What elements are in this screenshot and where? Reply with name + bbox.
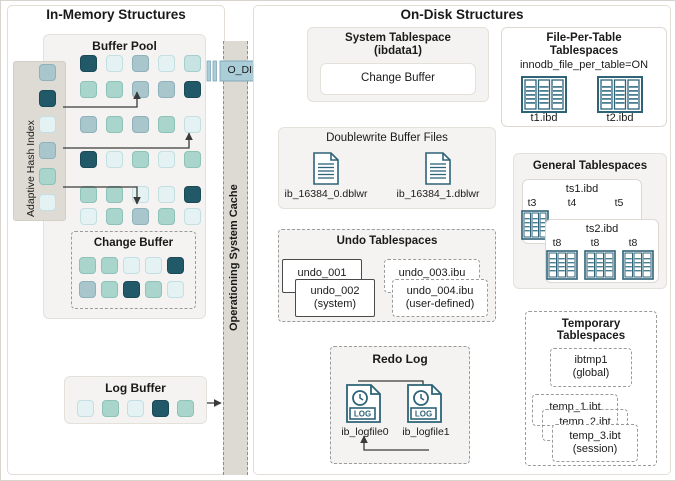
ts1-table-t4-label: t4	[560, 197, 584, 209]
undo-001-label: undo_001	[282, 267, 362, 279]
log-buffer-page	[152, 400, 169, 417]
log-buffer-title: Log Buffer	[64, 381, 207, 395]
os-cache-label: Operationing System Cache	[229, 184, 240, 331]
file-per-table-title-2: Tablespaces	[501, 45, 667, 57]
change-buffer-page	[79, 281, 96, 298]
ts2-table-2-label: t8	[621, 237, 645, 249]
doublewrite-title: Doublewrite Buffer Files	[278, 132, 496, 144]
adaptive-hash-index-label: Adaptive Hash Index	[25, 120, 37, 217]
temp-3-ibt-label: temp_3.ibt	[552, 430, 638, 442]
change-buffer-page	[101, 281, 118, 298]
system-tablespace-subtitle: (ibdata1)	[307, 45, 489, 57]
undo-004-sublabel: (user-defined)	[392, 298, 488, 310]
buffer-page	[106, 55, 123, 72]
buffer-page	[80, 55, 97, 72]
change-buffer-page	[167, 281, 184, 298]
os-cache-label-text: Operationing System Cache	[228, 184, 240, 331]
temp-3-ibt-sublabel: (session)	[552, 443, 638, 455]
system-change-buffer-label: Change Buffer	[320, 72, 476, 84]
ibtmp1-sublabel: (global)	[550, 367, 632, 379]
ahi-page	[39, 90, 56, 107]
undo-004-label: undo_004.ibu	[392, 285, 488, 297]
dblwr-1-file-icon	[425, 152, 451, 185]
ib-logfile0-icon: LOG	[346, 384, 382, 424]
ts2-table-0-label: t8	[545, 237, 569, 249]
undo-003-label: undo_003.ibu	[384, 267, 480, 279]
in-memory-header: In-Memory Structures	[7, 7, 225, 22]
ahi-page	[39, 142, 56, 159]
ts1-table-t3-label: t3	[520, 197, 544, 209]
file-per-table-title-1: File-Per-Table	[501, 32, 667, 44]
temporary-tablespaces-title-1: Temporary	[525, 318, 657, 330]
svg-text:LOG: LOG	[354, 410, 371, 419]
change-buffer-memory-title: Change Buffer	[71, 237, 196, 249]
dblwr-0-file-icon	[313, 152, 339, 185]
change-buffer-page	[79, 257, 96, 274]
ahi-page	[39, 168, 56, 185]
t2-table-icon	[598, 77, 642, 112]
ts2-table-1-label: t8	[583, 237, 607, 249]
svg-text:LOG: LOG	[415, 410, 432, 419]
ahi-arrows	[61, 87, 211, 232]
change-buffer-page	[101, 257, 118, 274]
ts2-name: ts2.ibd	[545, 223, 659, 235]
undo-tablespaces-title: Undo Tablespaces	[278, 235, 496, 247]
buffer-page	[132, 55, 149, 72]
ib-logfile1-label: ib_logfile1	[393, 426, 459, 438]
log-buffer-page	[102, 400, 119, 417]
ts1-table-t5-label: t5	[607, 197, 631, 209]
t1-table-icon	[522, 77, 566, 112]
dblwr-0-label: ib_16384_0.dblwr	[281, 188, 371, 200]
buffer-pool-title: Buffer Pool	[43, 39, 206, 53]
ts2-table-icons	[547, 251, 655, 279]
dblwr-1-label: ib_16384_1.dblwr	[393, 188, 483, 200]
ib-logfile1-icon: LOG	[407, 384, 443, 424]
ib-logfile0-label: ib_logfile0	[332, 426, 398, 438]
change-buffer-page	[145, 257, 162, 274]
change-buffer-page	[123, 281, 140, 298]
redo-log-title: Redo Log	[330, 352, 470, 366]
ibtmp1-label: ibtmp1	[550, 354, 632, 366]
ts1-name: ts1.ibd	[522, 183, 642, 195]
t1-ibd-label: t1.ibd	[514, 112, 574, 124]
on-disk-header: On-Disk Structures	[253, 7, 671, 22]
log-buffer-page	[127, 400, 144, 417]
file-per-table-setting: innodb_file_per_table=ON	[501, 59, 667, 71]
log-buffer-page	[177, 400, 194, 417]
innodb-architecture-diagram: In-Memory Structures Buffer Pool Adaptiv…	[0, 0, 676, 481]
t2-ibd-label: t2.ibd	[590, 112, 650, 124]
general-tablespaces-title: General Tablespaces	[513, 160, 667, 172]
system-tablespace-title: System Tablespace	[307, 32, 489, 44]
buffer-page	[184, 55, 201, 72]
ahi-page	[39, 116, 56, 133]
undo-002-sublabel: (system)	[295, 298, 375, 310]
change-buffer-page	[145, 281, 162, 298]
buffer-page	[158, 55, 175, 72]
change-buffer-page	[167, 257, 184, 274]
temporary-tablespaces-title-2: Tablespaces	[525, 330, 657, 342]
undo-002-label: undo_002	[295, 285, 375, 297]
ahi-page	[39, 64, 56, 81]
ahi-page	[39, 194, 56, 211]
change-buffer-page	[123, 257, 140, 274]
log-buffer-page	[77, 400, 94, 417]
